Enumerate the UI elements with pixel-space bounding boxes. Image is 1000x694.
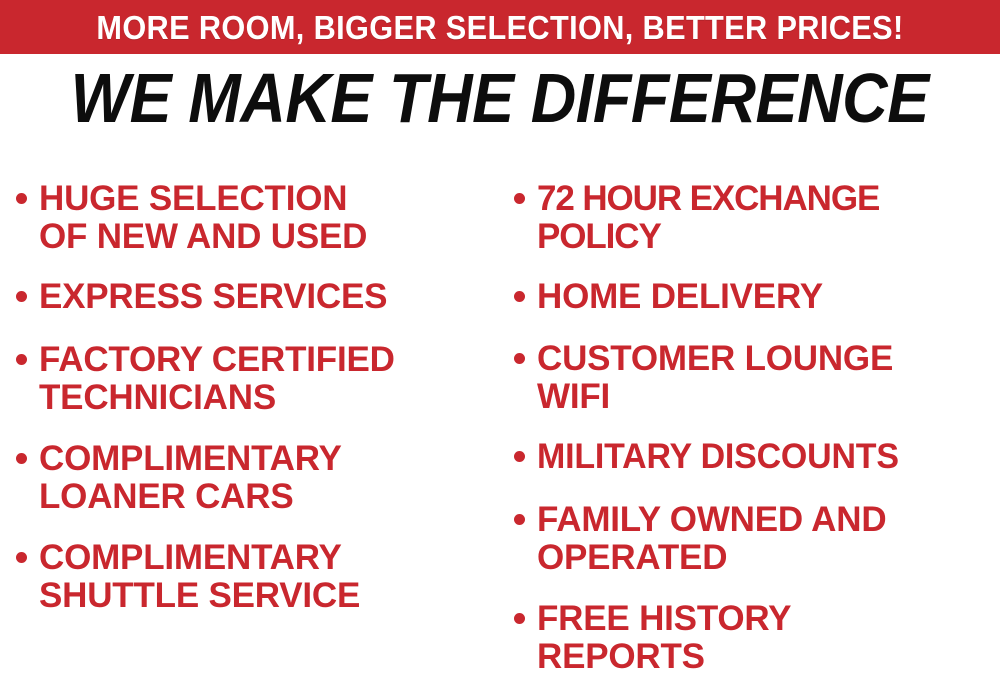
bullet-dot-icon <box>514 353 525 364</box>
bullet-dot-icon <box>16 291 27 302</box>
list-item: MILITARY DISCOUNTS <box>514 438 1000 476</box>
benefits-column-left: HUGE SELECTION OF NEW AND USEDEXPRESS SE… <box>0 160 500 694</box>
benefits-columns: HUGE SELECTION OF NEW AND USEDEXPRESS SE… <box>0 160 1000 694</box>
list-item: FREE HISTORY REPORTS <box>514 600 1000 676</box>
list-item: 72 HOUR EXCHANGE POLICY <box>514 180 1000 256</box>
list-item-label: FAMILY OWNED AND OPERATED <box>537 501 886 577</box>
list-item-label: 72 HOUR EXCHANGE POLICY <box>537 180 879 256</box>
bullet-dot-icon <box>514 514 525 525</box>
list-item-label: COMPLIMENTARY LOANER CARS <box>39 440 342 516</box>
list-item-label: HUGE SELECTION OF NEW AND USED <box>39 180 367 256</box>
list-item: EXPRESS SERVICES <box>16 278 500 316</box>
top-banner: MORE ROOM, BIGGER SELECTION, BETTER PRIC… <box>0 0 1000 54</box>
banner-headline-text: MORE ROOM, BIGGER SELECTION, BETTER PRIC… <box>96 11 903 44</box>
bullet-dot-icon <box>514 613 525 624</box>
page-title: WE MAKE THE DIFFERENCE <box>71 63 929 133</box>
list-item: HUGE SELECTION OF NEW AND USED <box>16 180 500 256</box>
list-item-label: HOME DELIVERY <box>537 278 823 316</box>
headline-container: WE MAKE THE DIFFERENCE <box>0 63 1000 133</box>
list-item-label: MILITARY DISCOUNTS <box>537 438 899 476</box>
bullet-dot-icon <box>16 453 27 464</box>
bullet-dot-icon <box>514 193 525 204</box>
bullet-dot-icon <box>514 291 525 302</box>
list-item-label: CUSTOMER LOUNGE WIFI <box>537 340 893 416</box>
list-item: FAMILY OWNED AND OPERATED <box>514 501 1000 577</box>
list-item-label: COMPLIMENTARY SHUTTLE SERVICE <box>39 539 360 615</box>
list-item: CUSTOMER LOUNGE WIFI <box>514 340 1000 416</box>
bullet-dot-icon <box>16 193 27 204</box>
benefits-column-right: 72 HOUR EXCHANGE POLICYHOME DELIVERYCUST… <box>500 160 1000 694</box>
list-item: COMPLIMENTARY SHUTTLE SERVICE <box>16 539 500 615</box>
list-item-label: EXPRESS SERVICES <box>39 278 387 316</box>
bullet-dot-icon <box>16 552 27 563</box>
bullet-dot-icon <box>514 451 525 462</box>
list-item: COMPLIMENTARY LOANER CARS <box>16 440 500 516</box>
list-item-label: FACTORY CERTIFIED TECHNICIANS <box>39 341 395 417</box>
list-item: FACTORY CERTIFIED TECHNICIANS <box>16 341 500 417</box>
list-item-label: FREE HISTORY REPORTS <box>537 600 791 676</box>
bullet-dot-icon <box>16 354 27 365</box>
list-item: HOME DELIVERY <box>514 278 1000 316</box>
promo-poster: MORE ROOM, BIGGER SELECTION, BETTER PRIC… <box>0 0 1000 694</box>
